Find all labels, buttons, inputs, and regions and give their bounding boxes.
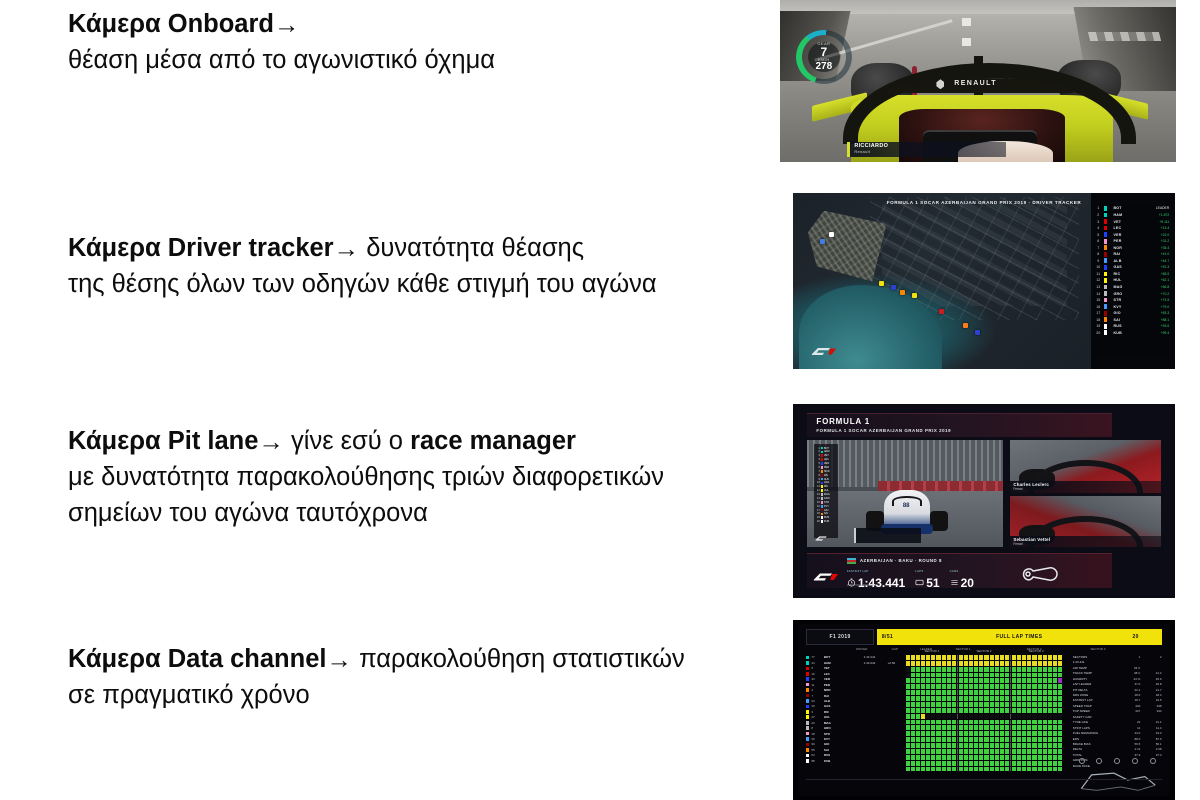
sector-grid-cell [964,690,968,695]
camera-title-onboard: Κάμερα Onboard [68,10,274,38]
sector-grid-cell [942,731,946,736]
secondary-camera-leclerc[interactable]: Charles Leclerc Ferrari [1010,440,1160,493]
sector-grid-cell [974,702,978,707]
sector-grid-cell [1017,714,1021,719]
arrow-icon-driver-tracker: → [334,231,360,267]
sector-grid-cell [984,761,988,766]
sector-grid-cell [1012,755,1016,760]
data-car-number: 3 [811,710,823,714]
sector-grid-cell [1005,767,1009,772]
data-driver-code: BOT [824,655,849,659]
sector-grid-cell [942,725,946,730]
sector-grid-cell [1017,725,1021,730]
data-team-color-bar [806,743,809,747]
data-stat-value-2: 56.1 [1140,742,1161,747]
tracker-standing-row: 3VET+9.111 [1093,218,1169,224]
sector-grid-cell [1032,743,1036,748]
sector-grid-cell [952,655,956,660]
sector-grid-cell [959,743,963,748]
sector-grid-cell [1043,767,1047,772]
sector-grid-cell [1027,708,1031,713]
camera-title-line-pit-lane: Κάμερα Pit lane→ γίνε εσύ ο race manager [68,423,768,459]
tracker-gap: +93.6 [1139,324,1170,328]
tracker-standing-row: 20KUB+99.4 [1093,330,1169,336]
sector-grid-cell [1032,678,1036,683]
sector-grid-cell [995,696,999,701]
secondary-camera-vettel[interactable]: Sebastian Vettel Ferrari [1010,496,1160,547]
sector-grid-cell [1017,673,1021,678]
sector-grid-cell [990,743,994,748]
data-stat-value-1: 38 C [1119,671,1140,676]
sector-grid-cell [1000,743,1004,748]
tracker-standing-row: 4LEC+13.4 [1093,225,1169,231]
data-driver-row: 8GRO [806,726,895,731]
sector-grid-cell [1000,690,1004,695]
sector-grid-cell [916,696,920,701]
data-driver-code: KVY [824,737,849,741]
sector-grid-cell [1038,678,1042,683]
sector-grid-cell [1027,725,1031,730]
sector-grid-cell [916,655,920,660]
data-team-color-bar [806,672,809,676]
data-stat-value-2: 338 [1140,704,1161,709]
data-team-color-bar [806,732,809,736]
sector-grid-cell [906,667,910,672]
tracker-gap: +35.4 [1139,246,1170,250]
tracker-driver-code: RIC [1114,272,1139,276]
tracker-gap: +62.1 [1139,278,1170,282]
sector-grid-row [906,761,1062,766]
tracker-car-marker [912,293,917,298]
sector-grid-cell [926,725,930,730]
data-team-color-bar [806,710,809,714]
sector-grid-cell [1048,749,1052,754]
tracker-team-color-bar [1104,239,1108,244]
camera-block-driver-tracker: Κάμερα Driver tracker→ δυνατότητα θέασης… [68,230,768,302]
tracker-gap: +22.0 [1139,233,1170,237]
hud-speed-value: 278 [815,62,832,72]
sector-grid-cell [1022,667,1026,672]
sector-grid-cell [974,755,978,760]
sector-grid-cell [1032,761,1036,766]
sector-grid-cell [984,702,988,707]
sector-grid-cell [1032,690,1036,695]
tracker-position: 15 [1093,298,1104,302]
tracker-gap: LEADER [1139,206,1170,210]
tracker-driver-code: MAG [1114,285,1139,289]
sector-grid-cell [911,749,915,754]
data-driver-code: HAM [824,661,849,665]
sector-grid-cell [979,661,983,666]
sector-grid-cell [1000,761,1004,766]
data-stat-value-2 [1140,660,1161,665]
data-driver-code: SAI [824,748,849,752]
data-car-number: 4 [811,688,823,692]
pit-timing-team-bar [821,489,823,492]
sector-grid-cell [906,720,910,725]
onboard-driver-team: Renault [854,149,1005,154]
tracker-driver-code: HAM [1114,213,1139,217]
sector-grid-cell [990,731,994,736]
tracker-standing-row: 5VER+22.0 [1093,232,1169,238]
sector-grid-cell [995,755,999,760]
data-stat-value-1: 11 [1119,726,1140,731]
sector-grid-cell [1038,714,1042,719]
data-channel-frame: F1 2019 8/51 FULL LAP TIMES 20 DRIVERGAP… [799,624,1169,796]
tracker-position: 17 [1093,311,1104,315]
sector-grid-cell [1022,661,1026,666]
sector-grid-cell [936,696,940,701]
sector-grid-cell [926,702,930,707]
arrow-icon-data-channel: → [326,642,352,678]
tracker-position: 5 [1093,233,1104,237]
sector-grid-cell [1005,755,1009,760]
sector-grid-cell [1032,655,1036,660]
tracker-team-color-bar [1104,258,1108,263]
sector-grid-cell [1000,720,1004,725]
sector-grid-cell [995,743,999,748]
data-driver-row: 55SAI [806,747,895,752]
sector-grid-cell [959,714,963,719]
tracker-position: 7 [1093,246,1104,250]
sector-grid-cell [911,731,915,736]
data-car-number: 11 [811,683,823,687]
tracker-driver-code: VET [1114,220,1139,224]
data-stat-label: SAFETY CAR [1073,715,1119,720]
sector-grid-cell [1038,767,1042,772]
data-driver-code: VET [824,666,849,670]
race-manager-emphasis: race manager [410,427,576,455]
data-car-number: 63 [811,753,823,757]
sector-grid-cell [1048,720,1052,725]
sector-grid-cell [916,661,920,666]
sector-grid-cell [936,661,940,666]
sector-grid-cell [911,690,915,695]
sector-grid-cell [984,673,988,678]
sector-grid-cell [969,725,973,730]
sector-grid-cell [952,714,956,719]
race-stat-label: LAPS [915,569,939,573]
sector-grid-cell [995,761,999,766]
sector-grid-cell [906,725,910,730]
sector-grid-cell [984,743,988,748]
sector-grid-cell [1032,708,1036,713]
sector-grid-cell [1058,731,1062,736]
sector-grid-cell [1038,720,1042,725]
sector-divider [1010,690,1011,695]
sector-grid-cell [1022,761,1026,766]
sector-grid-cell [1012,737,1016,742]
data-stat-label: FASTEST LAP [1073,698,1119,703]
sector-grid-cell [1043,743,1047,748]
data-driver-code: RAI [824,694,849,698]
driver-standings-panel: 1BOTLEADER2HAM+1.8723VET+9.1114LEC+13.45… [1093,205,1169,356]
sector-grid-cell [926,696,930,701]
camera-desc-pit-lane-1: με δυνατότητα παρακολούθησης τριών διαφο… [68,459,768,495]
sector-grid-cell [959,749,963,754]
sector-grid-row [906,708,1062,713]
sector-divider [957,725,958,730]
sector-grid-cell [916,761,920,766]
sector-grid-cell [947,720,951,725]
sector-grid-cell [1058,755,1062,760]
sector-grid-cell [979,708,983,713]
sector-grid-cell [952,684,956,689]
sector-grid-row [906,749,1062,754]
sector-grid-cell [1012,761,1016,766]
sector-grid-cell [906,743,910,748]
sector-grid-cell [921,761,925,766]
camera-label-leclerc: Charles Leclerc Ferrari [1010,481,1160,493]
data-stat-row: SECTORS12 [1073,655,1162,660]
sector-grid-cell [911,755,915,760]
sector-grid-row [906,731,1062,736]
data-stat-value-2: 21.7 [1140,688,1161,693]
sector-grid-cell [959,655,963,660]
sector-grid-cell [1038,702,1042,707]
sector-grid-cell [931,749,935,754]
sector-divider [1010,737,1011,742]
arrow-icon-pit-lane: → [258,424,284,460]
sector-grid-cell [969,667,973,672]
tracker-team-color-bar [1104,317,1108,322]
lap-icon [915,574,924,592]
sector-grid-cell [916,673,920,678]
camera-desc-pit-lane-2: σημείων του αγώνα ταυτόχρονα [68,495,768,531]
sector-divider [957,696,958,701]
sector-grid-cell [964,731,968,736]
sector-grid-cell [974,690,978,695]
sector-grid-cell [1022,725,1026,730]
sector-grid-cell [1005,714,1009,719]
data-car-number: 88 [811,759,823,763]
sector-grid-cell [979,678,983,683]
tracker-position: 2 [1093,213,1104,217]
tracker-car-marker [820,239,825,244]
data-team-color-bar [806,677,809,681]
pit-timing-team-bar [821,447,823,450]
sector-grid-cell [911,708,915,713]
sector-grid-cell [1005,720,1009,725]
sector-grid-cell [931,667,935,672]
sector-grid-cell [1000,755,1004,760]
sector-grid-cell [926,714,930,719]
sector-grid-cell [1058,743,1062,748]
sector-grid-cell [1027,714,1031,719]
sector-grid-cell [942,684,946,689]
sector-grid-cell [979,720,983,725]
data-team-color-bar [806,694,809,698]
sector-grid-cell [990,714,994,719]
sector-grid-cell [1005,684,1009,689]
sector-grid-cell [1022,696,1026,701]
sector-grid-cell [1038,761,1042,766]
sector-grid-cell [916,743,920,748]
sector-grid-cell [942,743,946,748]
sector-grid-cell [1048,673,1052,678]
data-team-color-bar [806,656,809,660]
sector-grid-cell [947,743,951,748]
sector-grid-cell [952,725,956,730]
sector-divider [957,690,958,695]
sector-grid-cell [1012,690,1016,695]
tyre-compound-icon [1150,758,1156,764]
sector-grid-cell [1017,655,1021,660]
data-stat-row: DRS ZONE18.018.4 [1073,693,1162,698]
sector-grid-cell [1000,725,1004,730]
sector-grid-cell [1027,661,1031,666]
tracker-standing-row: 8RAI+41.0 [1093,251,1169,257]
sector-grid-cell [1022,767,1026,772]
sector-grid-cell [1027,743,1031,748]
sector-grid-cell [964,714,968,719]
sector-grid-cell [1038,667,1042,672]
tracker-team-color-bar [1104,226,1108,231]
sector-grid-cell [984,667,988,672]
sector-divider [1010,684,1011,689]
tracker-position: 8 [1093,252,1104,256]
sector-grid-cell [1012,731,1016,736]
driver-tracker-screenshot: FORMULA 1 SOCAR AZERBAIJAN GRAND PRIX 20… [793,193,1175,369]
sector-grid-cell [1053,725,1057,730]
sector-grid-cell [936,673,940,678]
sector-grid-cell [979,684,983,689]
sector-grid-cell [931,725,935,730]
pit-timing-position: 20 [815,520,820,523]
tracker-gap: +31.2 [1139,239,1170,243]
camera-desc-driver-tracker: της θέσης όλων των οδηγών κάθε στιγμή το… [68,266,768,302]
sector-grid-cell [995,714,999,719]
sector-grid-cell [995,731,999,736]
sector-grid-cell [969,690,973,695]
pit-timing-row: 20KUB [815,520,836,524]
sector-grid-cell [916,731,920,736]
tracker-car-marker [829,232,834,237]
data-driver-code: MAG [824,721,849,725]
sector-grid-cell [959,761,963,766]
main-camera-feed[interactable]: 88 1BOT2HAM3VET4LEC5VER6PER7NOR8RAI9ALB1… [807,440,1003,547]
sector-grid-cell [984,767,988,772]
sector-grid-cell [906,673,910,678]
data-stat-value-1: 26 C [1119,666,1140,671]
sector-grid-cell [1038,684,1042,689]
sector-divider [957,673,958,678]
sector-grid-cell [1005,743,1009,748]
sector-grid-cell [1048,655,1052,660]
data-driver-code: HUL [824,715,849,719]
camera-label-vettel: Sebastian Vettel Ferrari [1010,536,1160,547]
sector-divider [1010,767,1011,772]
tracker-standing-row: 11RIC+58.9 [1093,271,1169,277]
data-driver-row: 18STR [806,731,895,736]
sector-grid-cell [1005,737,1009,742]
sector-grid-cell [1017,702,1021,707]
data-stat-row: PIT DELTA22.121.7 [1073,688,1162,693]
sector-time-grid [906,655,1062,771]
data-sector-header: SECTOR 3 [1010,649,1062,653]
sector-grid-cell [990,749,994,754]
sector-grid-cell [1058,749,1062,754]
sector-grid-cell [959,720,963,725]
sector-grid-cell [969,696,973,701]
sector-grid-cell [964,737,968,742]
sector-grid-cell [1022,731,1026,736]
sector-grid-cell [1000,731,1004,736]
sector-grid-cell [995,720,999,725]
sector-grid-cell [995,702,999,707]
sector-grid-cell [974,667,978,672]
sector-grid-cell [1038,731,1042,736]
sector-grid-cell [1048,661,1052,666]
sector-grid-cell [969,661,973,666]
tracker-team-color-bar [1104,252,1108,257]
data-stat-label: STINT LAPS [1073,726,1119,731]
data-stat-value-1: 22.1 [1119,688,1140,693]
data-stat-value-1: 2.11 [1119,747,1140,752]
sector-grid-cell [969,708,973,713]
sector-grid-cell [1005,731,1009,736]
sector-grid-cell [990,667,994,672]
race-stat-label: CARS [950,569,974,573]
sector-grid-cell [1027,696,1031,701]
camera-title-line-onboard: Κάμερα Onboard→ [68,6,768,42]
sector-grid-cell [984,655,988,660]
sector-grid-cell [921,749,925,754]
pit-lane-header-title: FORMULA 1 [816,417,870,426]
sector-grid-cell [947,731,951,736]
sector-grid-cell [931,767,935,772]
sector-grid-cell [1038,725,1042,730]
sector-grid-cell [995,678,999,683]
sector-grid-cell [921,696,925,701]
sector-grid-cell [947,678,951,683]
data-stat-value-2: 45.0 [1140,677,1161,682]
banner-title: FULL LAP TIMES [996,634,1042,640]
data-team-color-bar [806,759,809,763]
sector-grid-cell [979,667,983,672]
sector-grid-cell [959,696,963,701]
sector-grid-cell [916,725,920,730]
sector-grid-cell [959,661,963,666]
sector-grid-cell [911,702,915,707]
tracker-standing-row: 10GAS+51.3 [1093,264,1169,270]
sector-grid-cell [1053,673,1057,678]
sector-grid-cell [1000,678,1004,683]
pit-timing-team-bar [821,454,823,457]
sector-grid-cell [931,678,935,683]
pit-timing-team-bar [821,493,823,496]
sector-grid-cell [911,678,915,683]
sector-grid-cell [1043,761,1047,766]
sector-grid-cell [1043,696,1047,701]
sector-grid-cell [921,767,925,772]
data-stat-value-1: 340 [1119,704,1140,709]
tracker-driver-code: BOT [1114,206,1139,210]
tracker-gap: +13.4 [1139,226,1170,230]
data-driver-code: ALB [824,699,849,703]
f1-logo-icon [811,346,837,357]
sector-grid-cell [1058,714,1062,719]
sector-grid-cell [1058,678,1062,683]
tracker-position: 20 [1093,331,1104,335]
tracker-driver-code: VER [1114,233,1139,237]
sector-grid-cell [931,737,935,742]
sector-grid-cell [984,725,988,730]
sector-grid-cell [1005,667,1009,672]
sector-divider [1010,702,1011,707]
sector-grid-cell [931,731,935,736]
sector-grid-cell [952,755,956,760]
